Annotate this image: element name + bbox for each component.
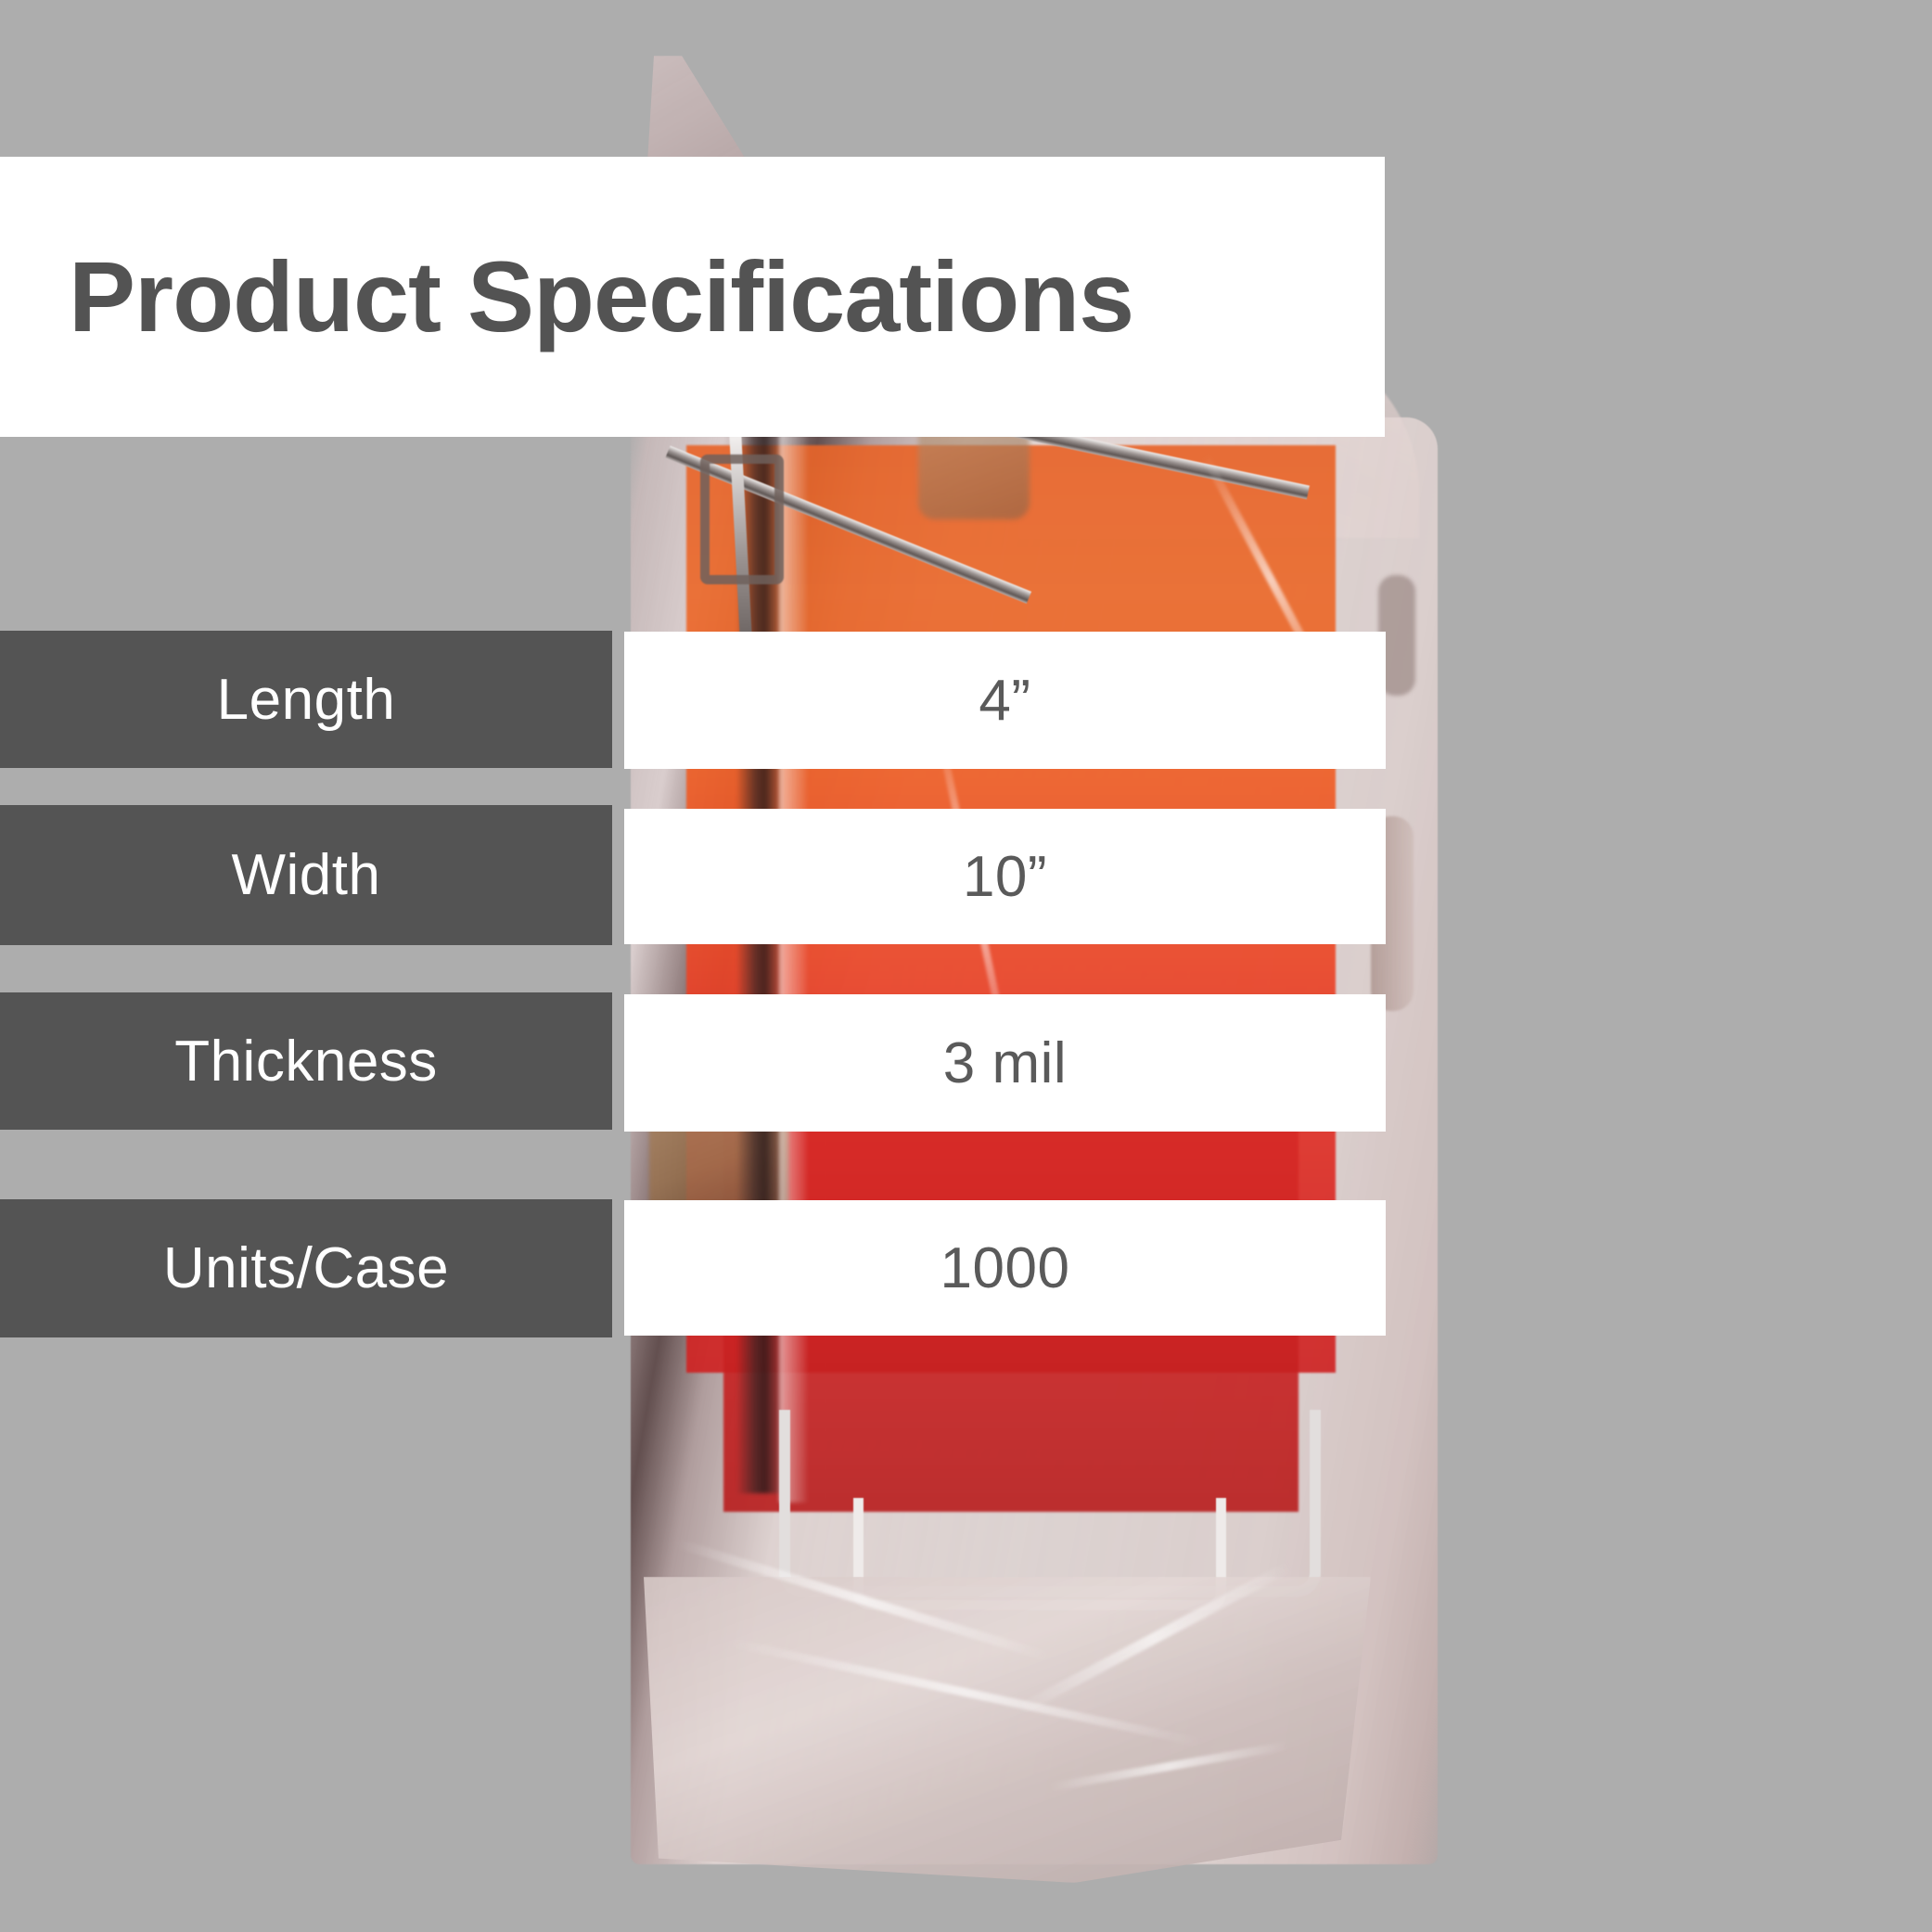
bag-fold-highlight bbox=[779, 427, 807, 1503]
spec-value-units-per-case: 1000 bbox=[624, 1200, 1386, 1336]
spec-value-length: 4” bbox=[624, 632, 1386, 769]
bag-bottom-seal bbox=[629, 1577, 1371, 1883]
title-band: Product Specifications bbox=[0, 157, 1385, 437]
page-title: Product Specifications bbox=[69, 247, 1133, 347]
wire-clip bbox=[700, 454, 784, 584]
spec-label-thickness: Thickness bbox=[0, 992, 612, 1130]
product-spec-card: Product Specifications Length 4” Width 1… bbox=[0, 0, 1932, 1932]
spec-label-units-per-case: Units/Case bbox=[0, 1199, 612, 1337]
spec-label-length: Length bbox=[0, 631, 612, 768]
spec-value-width: 10” bbox=[624, 809, 1386, 944]
spec-label-width: Width bbox=[0, 805, 612, 945]
spec-value-thickness: 3 mil bbox=[624, 994, 1386, 1132]
